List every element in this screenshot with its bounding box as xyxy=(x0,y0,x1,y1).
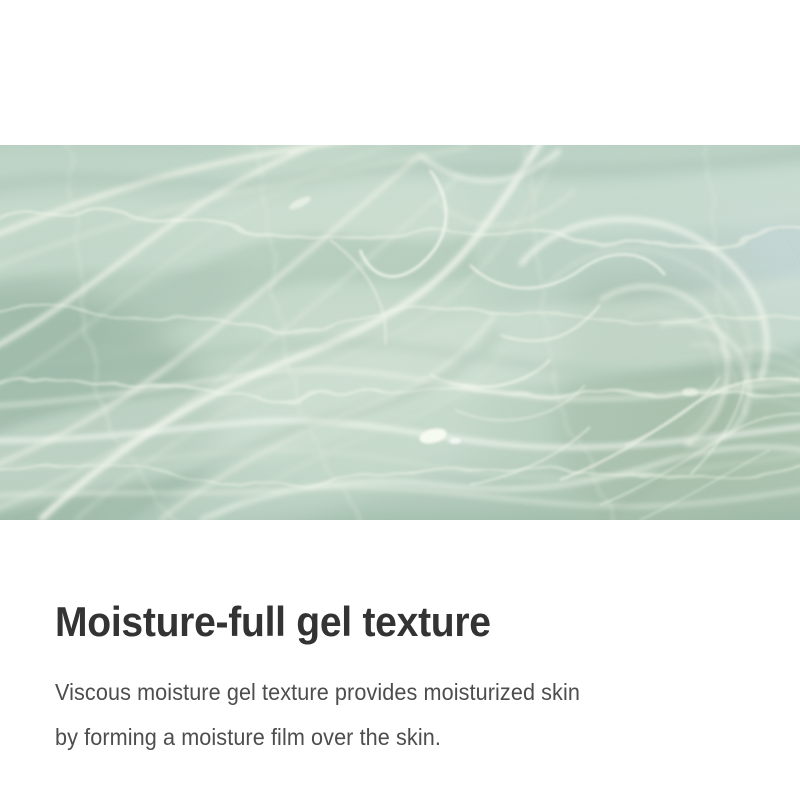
gel-texture-photo xyxy=(0,145,800,520)
description-line-2: by forming a moisture film over the skin… xyxy=(55,715,713,760)
gel-texture-illustration xyxy=(0,145,800,520)
product-copy-block: Moisture-full gel texture Viscous moistu… xyxy=(55,597,755,760)
page-title: Moisture-full gel texture xyxy=(55,597,706,647)
description-line-1: Viscous moisture gel texture provides mo… xyxy=(55,670,713,715)
product-detail-page: Moisture-full gel texture Viscous moistu… xyxy=(0,0,800,800)
product-description: Viscous moisture gel texture provides mo… xyxy=(55,647,713,760)
